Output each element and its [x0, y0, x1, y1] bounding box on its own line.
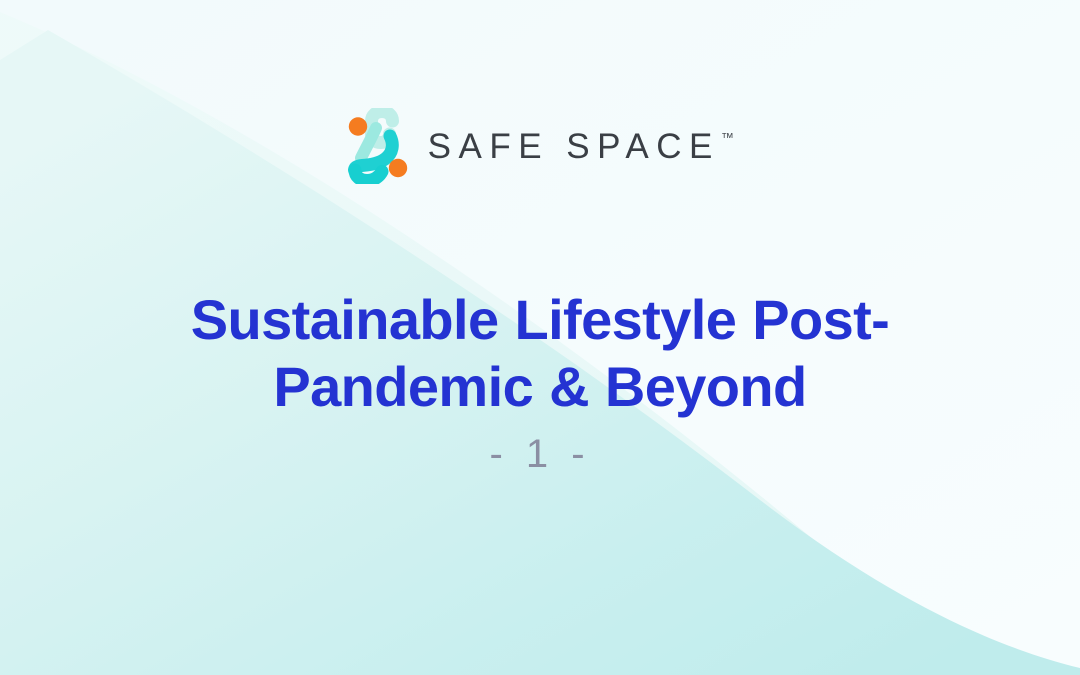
- slide-canvas: SAFE SPACE ™ Sustainable Lifestyle Post-…: [0, 0, 1080, 675]
- safe-space-s-mark-icon: [346, 108, 412, 184]
- brand-wordmark-text: SAFE SPACE: [428, 129, 720, 164]
- s-mark-dot-top-left: [348, 117, 366, 135]
- trademark-symbol: ™: [721, 131, 735, 144]
- s-mark-lower-bowl: [355, 170, 382, 181]
- page-title: Sustainable Lifestyle Post-Pandemic & Be…: [140, 286, 940, 420]
- brand-wordmark: SAFE SPACE ™: [428, 129, 735, 164]
- brand-logo: SAFE SPACE ™: [0, 108, 1080, 184]
- page-number-indicator: - 1 -: [330, 432, 750, 477]
- s-mark-dot-bottom-right: [388, 159, 406, 177]
